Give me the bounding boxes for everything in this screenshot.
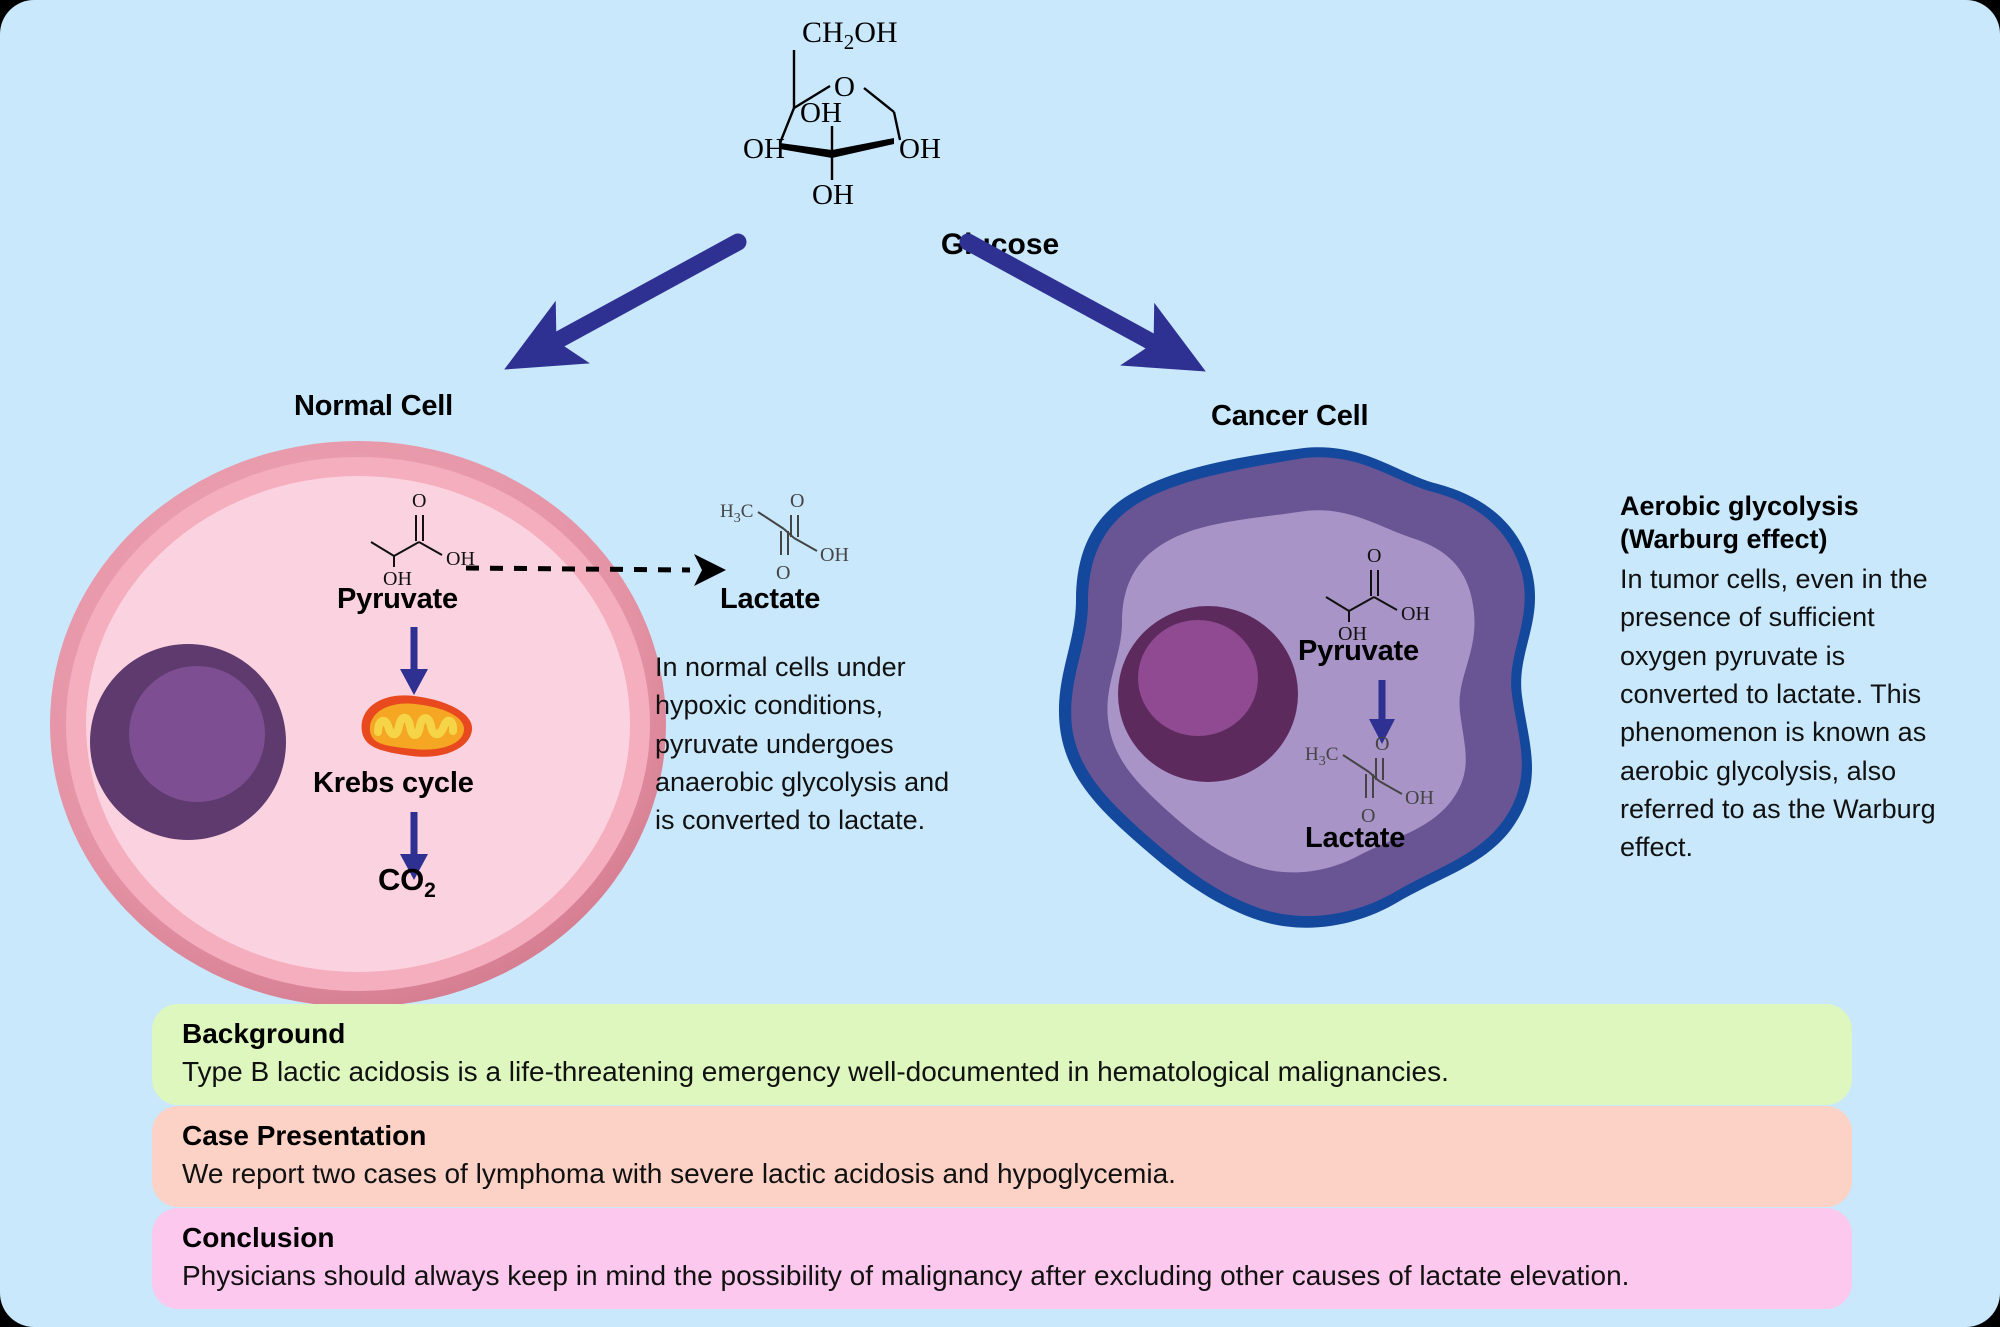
cancer-cell-nucleolus [1138, 620, 1258, 736]
banner-background-heading: Background [182, 1018, 1822, 1050]
co2-text: CO [378, 862, 424, 897]
banner-conclusion-text: Physicians should always keep in mind th… [182, 1258, 1822, 1293]
lactate-h3c-label: H3C [720, 501, 753, 526]
banner-conclusion: Conclusion Physicians should always keep… [152, 1208, 1852, 1309]
normal-cell-title: Normal Cell [294, 390, 453, 423]
mitochondrion-icon [352, 690, 480, 762]
warburg-title-line2: (Warburg effect) [1620, 524, 1828, 554]
lactate-o-bottom-label: O [776, 562, 790, 584]
lactate-oh-label: OH [820, 544, 849, 566]
cancer-cell-lactate-molecule: H3C O OH O [1305, 728, 1445, 828]
krebs-cycle-label: Krebs cycle [313, 767, 474, 800]
cc-lactate-o-top-label: O [1375, 733, 1389, 755]
cancer-cell-lactate-label: Lactate [1305, 822, 1405, 855]
normal-cell-nucleolus [129, 666, 265, 802]
cc-lactate-h3c-label: H3C [1305, 744, 1338, 769]
cancer-cell-pyruvate-label: Pyruvate [1298, 635, 1419, 668]
diagram-canvas: CH2OH O OH OH OH OH Glucose Normal Cell … [0, 0, 2000, 1327]
warburg-title-line1: Aerobic glycolysis [1620, 491, 1859, 521]
normal-pyruvate-to-krebs-arrow [394, 625, 434, 697]
pyruvate-o-label: O [412, 490, 426, 512]
lactate-o-top-label: O [790, 490, 804, 512]
co2-subscript: 2 [424, 879, 435, 902]
normal-cell-pyruvate-label: Pyruvate [337, 583, 458, 616]
cc-pyruvate-oh-right-label: OH [1401, 603, 1430, 625]
cancer-cell-title: Cancer Cell [1211, 400, 1368, 433]
glucose-split-arrows [0, 0, 2000, 420]
warburg-text-block: Aerobic glycolysis (Warburg effect) In t… [1620, 490, 1940, 867]
cc-lactate-oh-label: OH [1405, 787, 1434, 809]
banner-background: Background Type B lactic acidosis is a l… [152, 1004, 1852, 1105]
banner-background-text: Type B lactic acidosis is a life-threate… [182, 1054, 1822, 1089]
co2-label: CO2 [378, 862, 436, 903]
cancer-cell-body [1046, 440, 1566, 940]
banner-case-text: We report two cases of lymphoma with sev… [182, 1156, 1822, 1191]
extracellular-lactate-label: Lactate [720, 583, 820, 616]
arrow-to-cancer-cell [968, 242, 1170, 352]
banner-case-heading: Case Presentation [182, 1120, 1822, 1152]
cc-pyruvate-o-label: O [1367, 545, 1381, 567]
pyruvate-to-lactate-dashed-arrow [462, 548, 732, 594]
cancer-cell-pyruvate-molecule: O OH OH [1325, 540, 1455, 640]
warburg-title: Aerobic glycolysis (Warburg effect) [1620, 490, 1940, 556]
banner-conclusion-heading: Conclusion [182, 1222, 1822, 1254]
warburg-body: In tumor cells, even in the presence of … [1620, 560, 1940, 867]
arrow-to-normal-cell [540, 242, 738, 350]
normal-cell-paragraph: In normal cells under hypoxic conditions… [655, 648, 975, 840]
extracellular-lactate-molecule: H3C O OH O [720, 485, 860, 585]
banner-case-presentation: Case Presentation We report two cases of… [152, 1106, 1852, 1207]
